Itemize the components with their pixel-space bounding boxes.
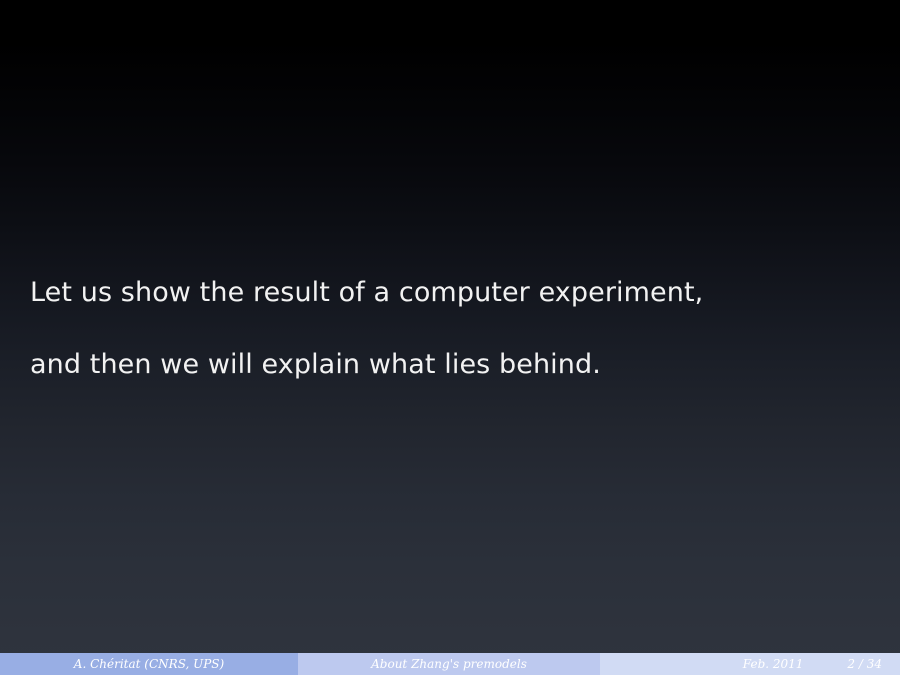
footer-title-cell: About Zhang's premodels	[298, 653, 600, 675]
slide-footer: A. Chéritat (CNRS, UPS) About Zhang's pr…	[0, 653, 900, 675]
slide-content-area: Let us show the result of a computer exp…	[0, 0, 900, 653]
footer-info-cell: Feb. 2011 2 / 34	[600, 653, 900, 675]
body-line-1: Let us show the result of a computer exp…	[30, 275, 860, 311]
presentation-slide: Let us show the result of a computer exp…	[0, 0, 900, 675]
footer-title-label: About Zhang's premodels	[371, 657, 527, 671]
body-line-2: and then we will explain what lies behin…	[30, 347, 860, 383]
slide-body-text: Let us show the result of a computer exp…	[30, 239, 860, 419]
footer-date-label: Feb. 2011	[743, 657, 804, 671]
footer-author-label: A. Chéritat (CNRS, UPS)	[74, 657, 224, 671]
footer-page-number: 2 / 34	[847, 657, 882, 671]
footer-author-cell: A. Chéritat (CNRS, UPS)	[0, 653, 298, 675]
